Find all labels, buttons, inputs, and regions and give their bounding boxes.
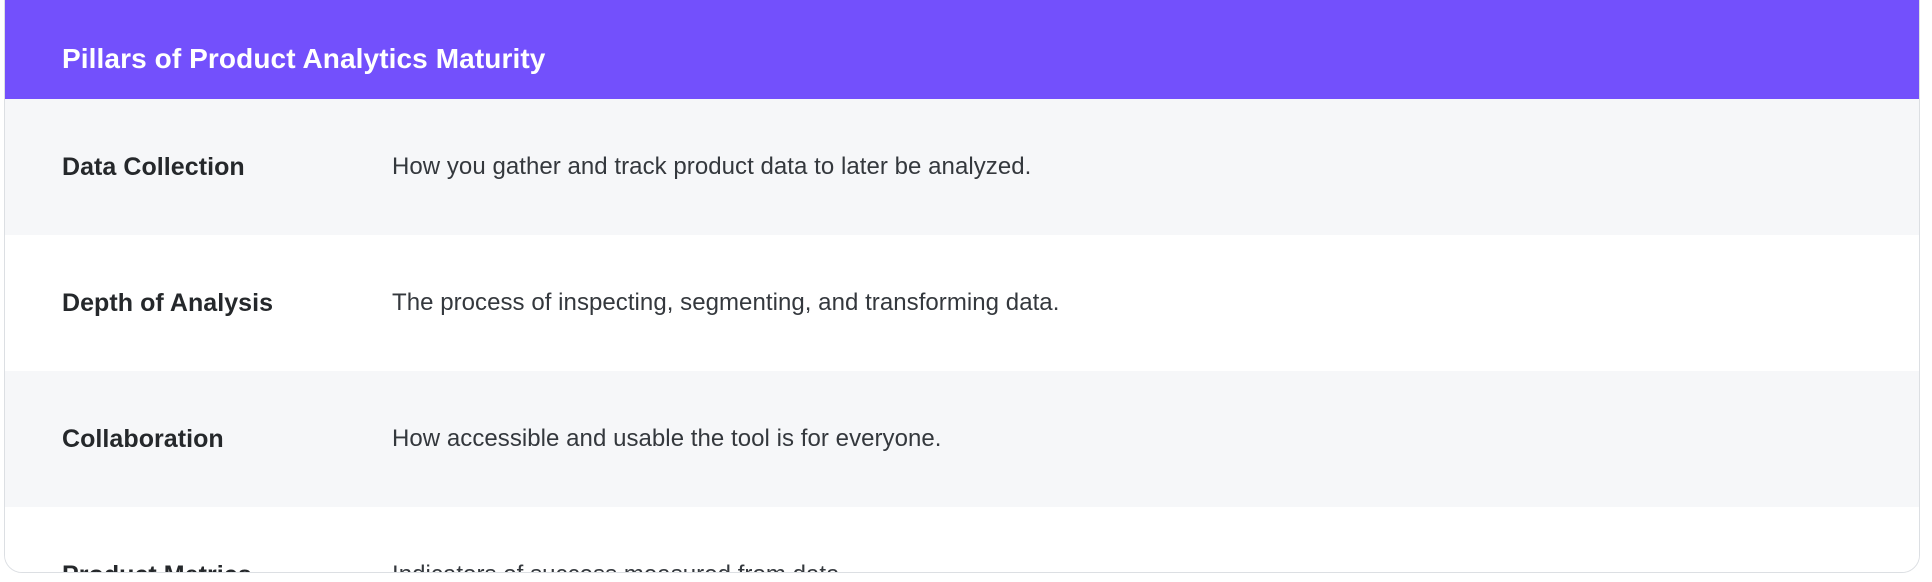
pillar-label: Depth of Analysis xyxy=(62,289,392,318)
pillar-description: How you gather and track product data to… xyxy=(392,153,1031,181)
pillar-label: Product Metrics xyxy=(62,561,392,574)
pillar-label: Data Collection xyxy=(62,153,392,182)
pillars-list: Data Collection How you gather and track… xyxy=(5,99,1919,573)
pillar-description: The process of inspecting, segmenting, a… xyxy=(392,289,1059,317)
pillars-card: Pillars of Product Analytics Maturity Da… xyxy=(4,0,1920,573)
page-title: Pillars of Product Analytics Maturity xyxy=(62,45,545,73)
pillar-description: How accessible and usable the tool is fo… xyxy=(392,425,942,453)
pillar-description: Indicators of success measured from data… xyxy=(392,561,846,573)
list-item: Depth of Analysis The process of inspect… xyxy=(5,235,1919,371)
card-header: Pillars of Product Analytics Maturity xyxy=(5,0,1919,99)
list-item: Product Metrics Indicators of success me… xyxy=(5,507,1919,573)
list-item: Collaboration How accessible and usable … xyxy=(5,371,1919,507)
pillar-label: Collaboration xyxy=(62,425,392,454)
list-item: Data Collection How you gather and track… xyxy=(5,99,1919,235)
